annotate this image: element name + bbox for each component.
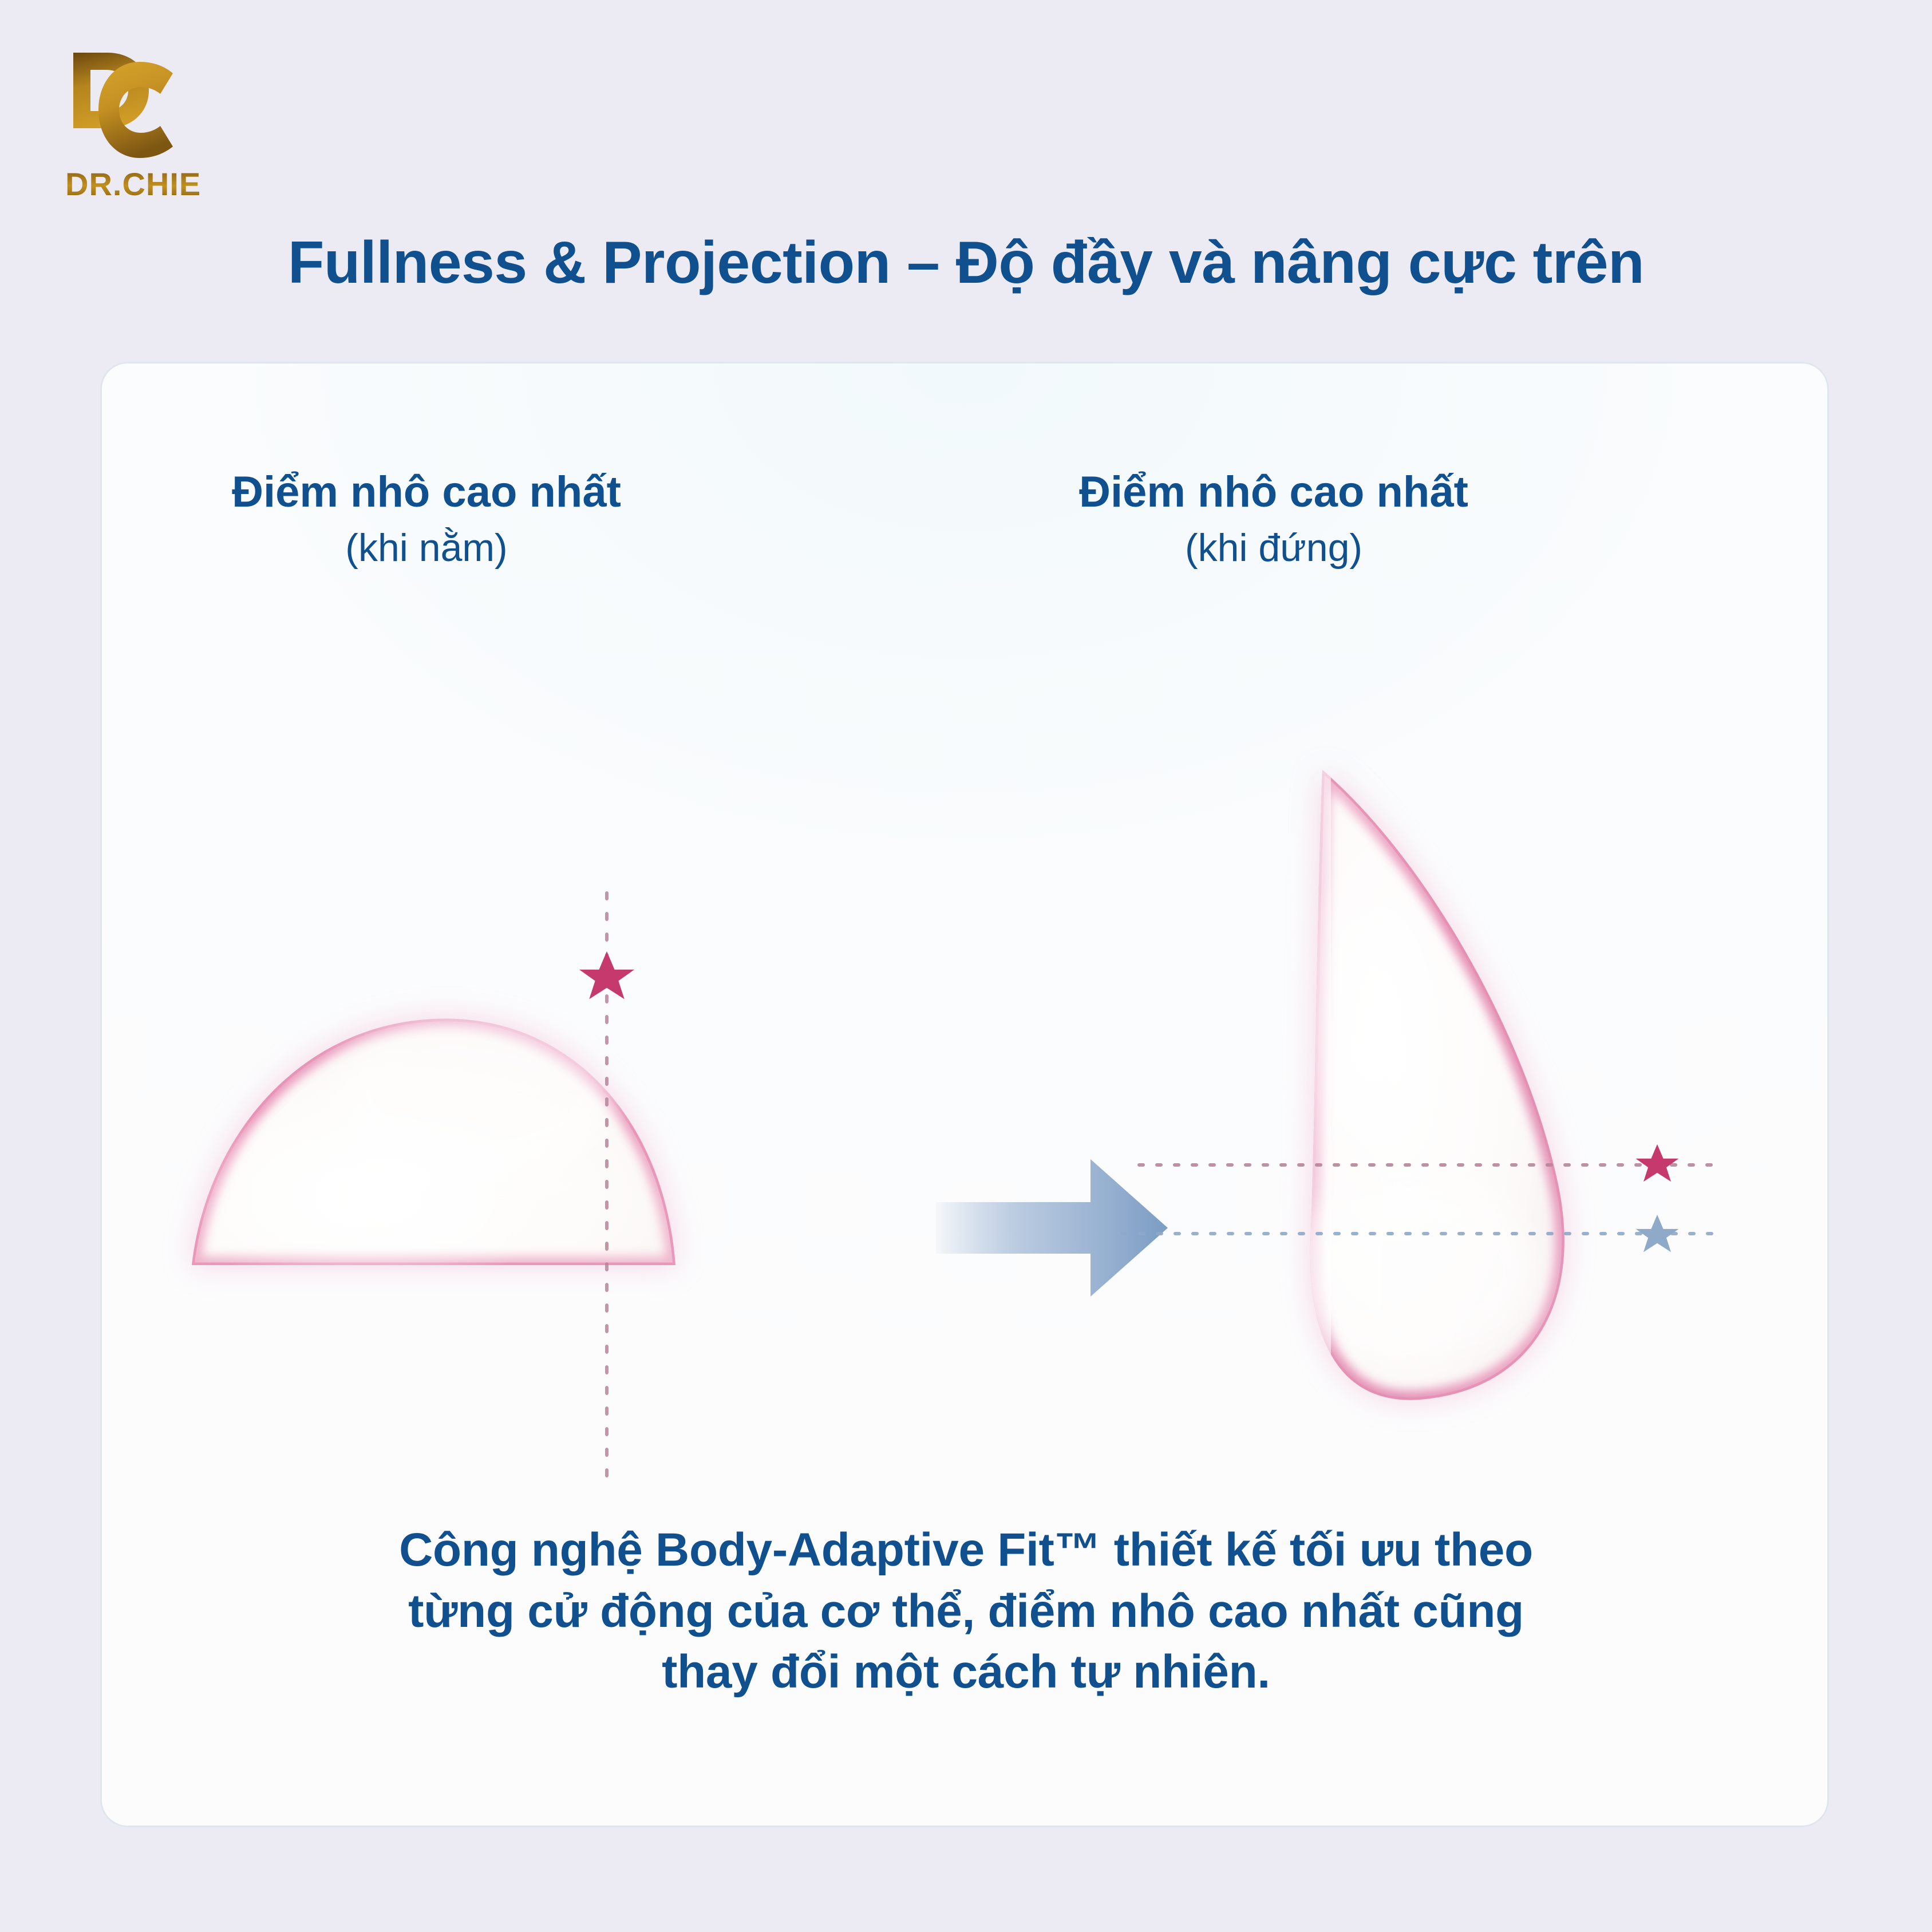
breast-profile-standing (1277, 761, 1564, 1420)
summary-caption: Công nghệ Body-Adaptive Fit™ thiết kế tố… (0, 1520, 1932, 1703)
column-heading-standing-subtitle: (khi đứng) (930, 528, 1617, 568)
logo-wordmark: DR.CHIEN (65, 168, 200, 200)
projection-diagram (0, 681, 1932, 1500)
column-heading-standing: Điểm nhô cao nhất (khi đứng) (930, 469, 1617, 568)
apex-star-standing-upper (1635, 1144, 1678, 1182)
column-heading-standing-title: Điểm nhô cao nhất (930, 469, 1617, 515)
apex-star-lying (579, 951, 634, 999)
dc-monogram-icon (63, 46, 183, 160)
brand-logo[interactable]: DR.CHIEN (63, 46, 200, 218)
page-title: Fullness & Projection – Độ đầy và nâng c… (0, 229, 1932, 297)
column-heading-lying-title: Điểm nhô cao nhất (83, 469, 770, 515)
transition-arrow (936, 1159, 1168, 1297)
column-heading-lying: Điểm nhô cao nhất (khi nằm) (83, 469, 770, 568)
caption-line-1: Công nghệ Body-Adaptive Fit™ thiết kế tố… (0, 1520, 1932, 1581)
apex-star-standing-lower (1635, 1215, 1678, 1252)
illustration-stage (0, 681, 1932, 1500)
caption-line-2: từng cử động của cơ thể, điểm nhô cao nh… (0, 1581, 1932, 1642)
column-heading-lying-subtitle: (khi nằm) (83, 528, 770, 568)
breast-profile-lying (177, 1008, 675, 1299)
caption-line-3: thay đổi một cách tự nhiên. (0, 1642, 1932, 1703)
